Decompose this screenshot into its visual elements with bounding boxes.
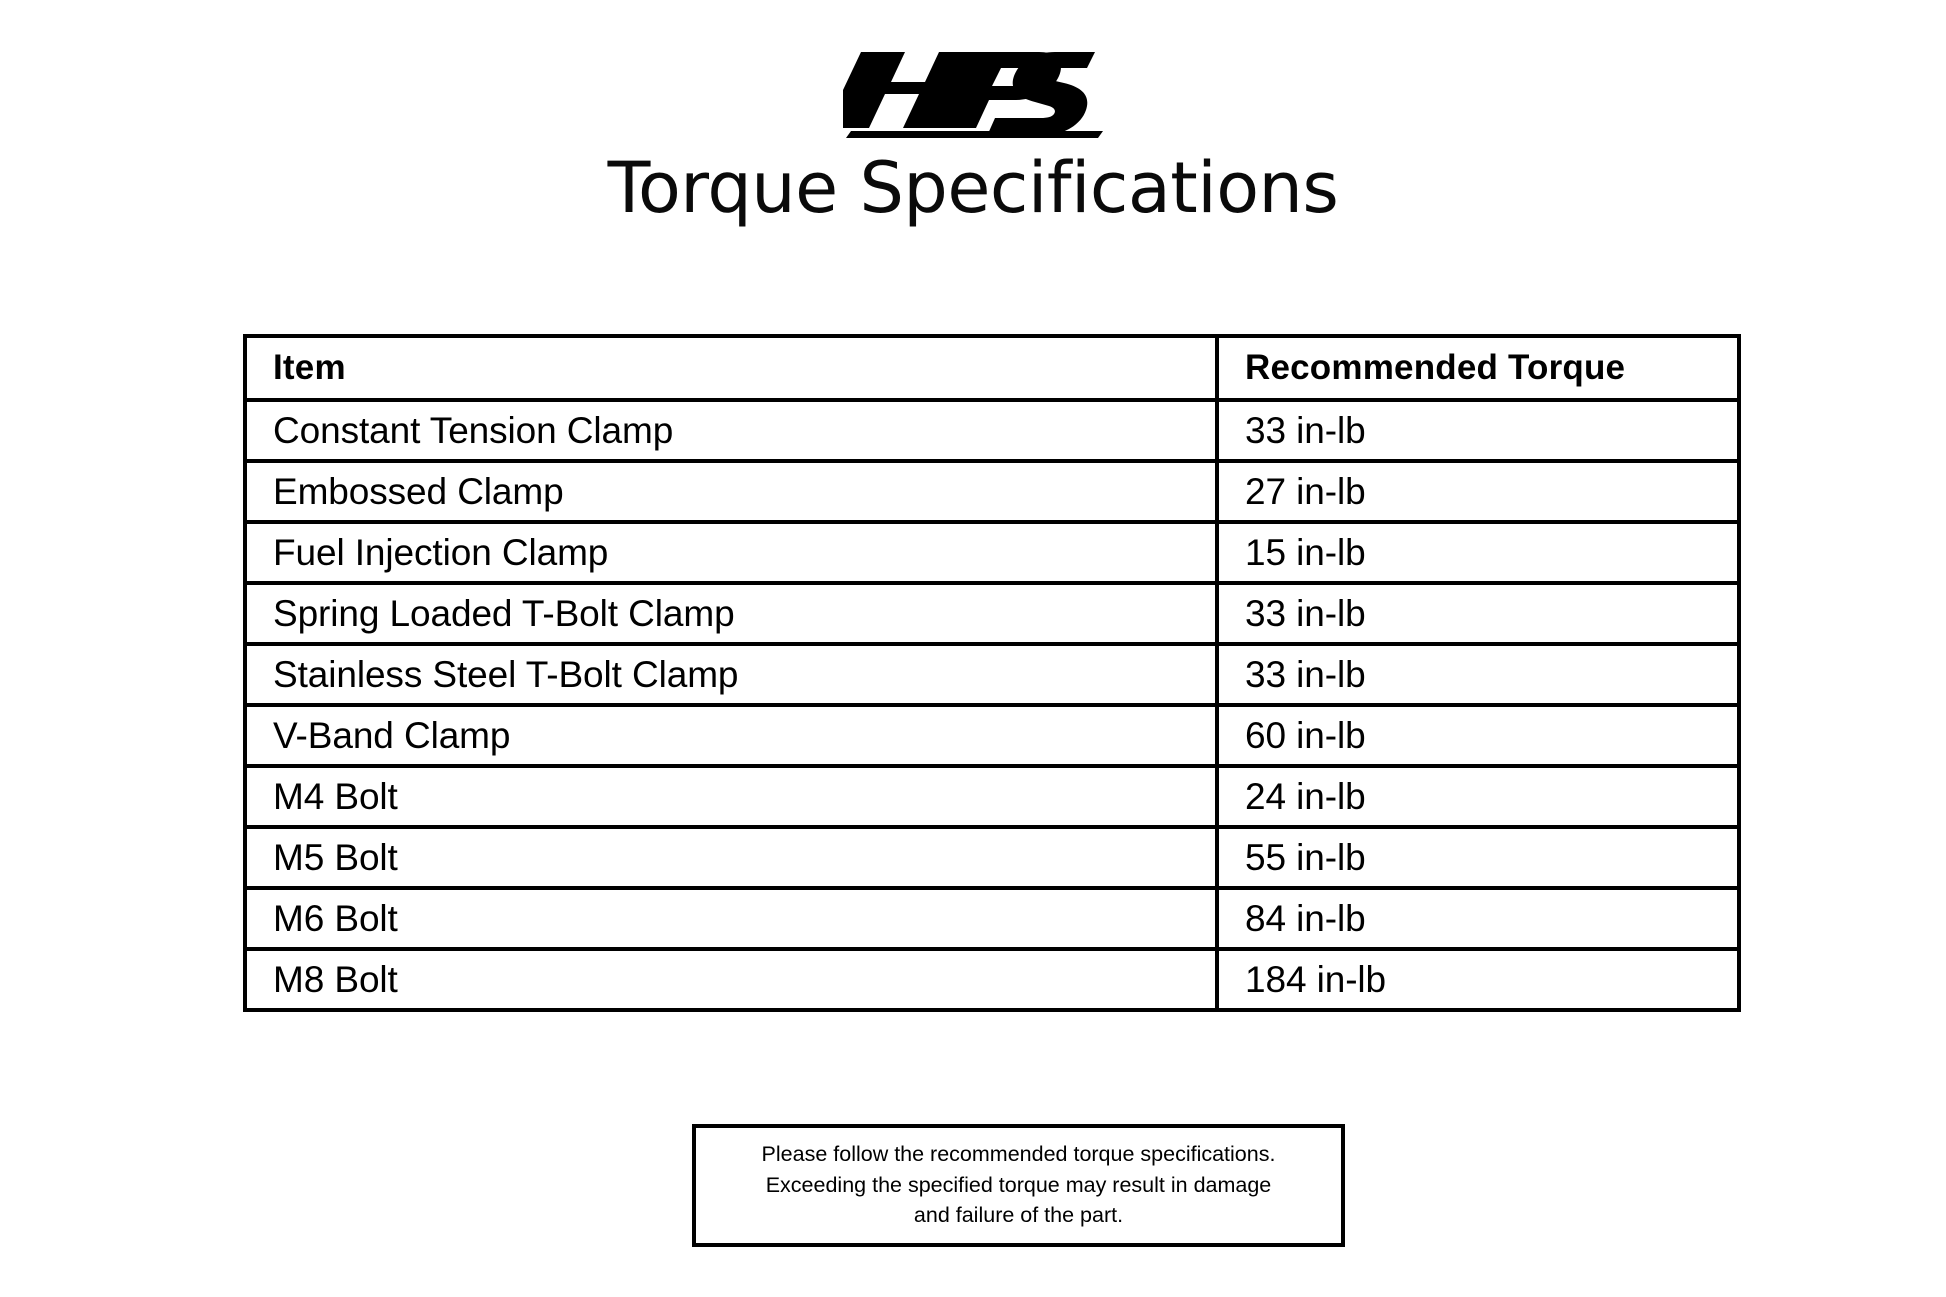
table-row: M8 Bolt 184 in-lb bbox=[245, 949, 1739, 1010]
hps-wordmark-logo bbox=[843, 38, 1103, 138]
cell-item: M5 Bolt bbox=[245, 827, 1217, 888]
brand-logo bbox=[0, 38, 1946, 146]
table-row: V-Band Clamp 60 in-lb bbox=[245, 705, 1739, 766]
torque-specifications-table: Item Recommended Torque Constant Tension… bbox=[243, 334, 1741, 1012]
cell-torque: 33 in-lb bbox=[1217, 400, 1739, 461]
table-row: M5 Bolt 55 in-lb bbox=[245, 827, 1739, 888]
cell-torque: 55 in-lb bbox=[1217, 827, 1739, 888]
table-row: M6 Bolt 84 in-lb bbox=[245, 888, 1739, 949]
warning-note-box: Please follow the recommended torque spe… bbox=[692, 1124, 1345, 1247]
cell-torque: 84 in-lb bbox=[1217, 888, 1739, 949]
cell-torque: 27 in-lb bbox=[1217, 461, 1739, 522]
cell-torque: 15 in-lb bbox=[1217, 522, 1739, 583]
cell-item: Embossed Clamp bbox=[245, 461, 1217, 522]
cell-torque: 33 in-lb bbox=[1217, 644, 1739, 705]
cell-torque: 60 in-lb bbox=[1217, 705, 1739, 766]
table-header: Item Recommended Torque bbox=[245, 336, 1739, 400]
cell-item: M8 Bolt bbox=[245, 949, 1217, 1010]
table-body: Constant Tension Clamp 33 in-lb Embossed… bbox=[245, 400, 1739, 1010]
table-row: Embossed Clamp 27 in-lb bbox=[245, 461, 1739, 522]
column-header-item: Item bbox=[245, 336, 1217, 400]
cell-item: M6 Bolt bbox=[245, 888, 1217, 949]
table-row: M4 Bolt 24 in-lb bbox=[245, 766, 1739, 827]
cell-item: Stainless Steel T-Bolt Clamp bbox=[245, 644, 1217, 705]
cell-torque: 33 in-lb bbox=[1217, 583, 1739, 644]
table-row: Constant Tension Clamp 33 in-lb bbox=[245, 400, 1739, 461]
cell-item: V-Band Clamp bbox=[245, 705, 1217, 766]
document-page: Torque Specifications Item Recommended T… bbox=[0, 0, 1946, 1297]
torque-table-container: Item Recommended Torque Constant Tension… bbox=[243, 334, 1737, 1012]
cell-item: Constant Tension Clamp bbox=[245, 400, 1217, 461]
cell-torque: 184 in-lb bbox=[1217, 949, 1739, 1010]
table-row: Spring Loaded T-Bolt Clamp 33 in-lb bbox=[245, 583, 1739, 644]
table-header-row: Item Recommended Torque bbox=[245, 336, 1739, 400]
table-row: Stainless Steel T-Bolt Clamp 33 in-lb bbox=[245, 644, 1739, 705]
cell-item: Spring Loaded T-Bolt Clamp bbox=[245, 583, 1217, 644]
column-header-recommended-torque: Recommended Torque bbox=[1217, 336, 1739, 400]
note-line-2: Exceeding the specified torque may resul… bbox=[704, 1170, 1333, 1201]
page-title: Torque Specifications bbox=[0, 152, 1946, 226]
cell-item: M4 Bolt bbox=[245, 766, 1217, 827]
cell-item: Fuel Injection Clamp bbox=[245, 522, 1217, 583]
note-line-3: and failure of the part. bbox=[704, 1200, 1333, 1231]
table-row: Fuel Injection Clamp 15 in-lb bbox=[245, 522, 1739, 583]
note-line-1: Please follow the recommended torque spe… bbox=[704, 1139, 1333, 1170]
cell-torque: 24 in-lb bbox=[1217, 766, 1739, 827]
